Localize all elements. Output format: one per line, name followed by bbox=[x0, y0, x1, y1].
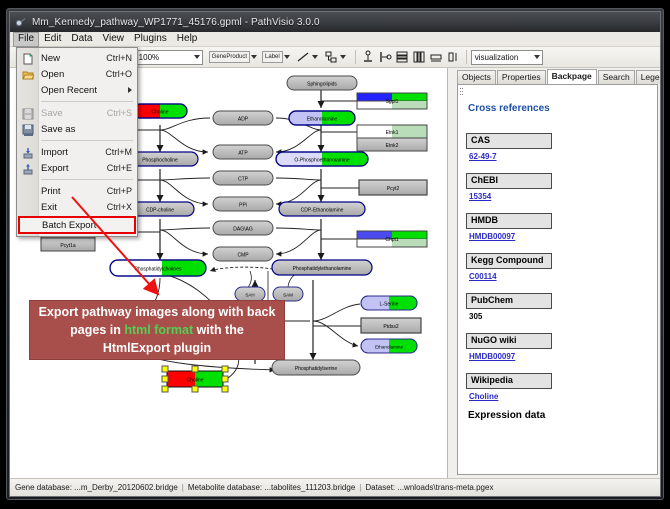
distribute-vertical-icon[interactable] bbox=[394, 49, 410, 65]
svg-text:CDP-choline: CDP-choline bbox=[146, 208, 174, 214]
svg-text:Etnk2: Etnk2 bbox=[386, 143, 399, 149]
node-dag-ag: DAG\AG bbox=[213, 221, 273, 235]
node-phosphatidylserine: Phosphatidylserine bbox=[272, 360, 360, 375]
node-ethanolamine-bottom: Ethanolamine bbox=[361, 339, 417, 353]
xref-cas: CAS 62-49-7 bbox=[466, 130, 657, 161]
svg-text:ATP: ATP bbox=[238, 151, 248, 157]
menu-item-label: New bbox=[41, 53, 98, 64]
menu-item-save: Save Ctrl+S bbox=[17, 105, 137, 121]
node-choline-top: Choline bbox=[133, 104, 187, 118]
xref-value: 305 bbox=[469, 312, 657, 321]
menu-item-save-as[interactable]: Save as bbox=[17, 121, 137, 137]
tab-legend[interactable]: Legend bbox=[636, 70, 661, 84]
node-phosphatidylcholines: Phosphatidylcholines bbox=[110, 260, 206, 276]
callout-highlight: html format bbox=[124, 323, 193, 337]
save-as-icon bbox=[21, 123, 34, 136]
svg-text:O-Phosphoethanolamine: O-Phosphoethanolamine bbox=[294, 158, 350, 164]
menu-divider bbox=[41, 179, 133, 180]
screenshot-root: Mm_Kennedy_pathway_WP1771_45176.gpml - P… bbox=[0, 0, 670, 509]
xref-link[interactable]: HMDB00097 bbox=[469, 232, 657, 241]
menu-item-import[interactable]: Import Ctrl+M bbox=[17, 144, 137, 160]
zoom-value: 100% bbox=[139, 53, 159, 62]
svg-text:Choline: Choline bbox=[152, 110, 169, 116]
chevron-down-icon[interactable] bbox=[340, 55, 346, 59]
svg-text:DAG\AG: DAG\AG bbox=[233, 227, 253, 233]
svg-text:Phosphatidylethanolamine: Phosphatidylethanolamine bbox=[293, 266, 352, 272]
node-atp: ATP bbox=[213, 145, 273, 159]
callout-line-1: Export pathway images along with back bbox=[39, 303, 276, 321]
visualization-value: visualization bbox=[475, 53, 519, 62]
menu-item-new[interactable]: New Ctrl+N bbox=[17, 50, 137, 66]
svg-text:Ethanolamine: Ethanolamine bbox=[375, 345, 404, 350]
svg-text:CDP-Ethanolamine: CDP-Ethanolamine bbox=[301, 208, 344, 214]
import-icon bbox=[21, 146, 34, 159]
chevron-down-icon bbox=[194, 55, 200, 59]
node-cmp: CMP bbox=[213, 247, 273, 261]
svg-text:Sgpl1: Sgpl1 bbox=[386, 99, 399, 105]
menu-plugins[interactable]: Plugins bbox=[129, 32, 172, 47]
same-height-icon[interactable] bbox=[445, 49, 461, 65]
menu-item-accel: Ctrl+S bbox=[107, 108, 132, 118]
svg-text:Phosphatidylserine: Phosphatidylserine bbox=[295, 366, 337, 372]
svg-text:Chpt1: Chpt1 bbox=[385, 237, 399, 243]
node-phosphatidylethanolamine: Phosphatidylethanolamine bbox=[272, 260, 372, 275]
node-o-phosphoethanolamine: O-Phosphoethanolamine bbox=[276, 152, 368, 166]
dataset-value: ...wnloads\trans-meta.pgex bbox=[397, 483, 493, 492]
xref-label: Kegg Compound bbox=[466, 253, 552, 269]
svg-text:Choline: Choline bbox=[187, 378, 204, 384]
svg-text:L-Serine: L-Serine bbox=[380, 302, 399, 308]
window-title: Mm_Kennedy_pathway_WP1771_45176.gpml - P… bbox=[32, 17, 320, 28]
menu-item-export[interactable]: Export Ctrl+E bbox=[17, 160, 137, 176]
file-menu-dropdown[interactable]: New Ctrl+N Open Ctrl+O Open Recent Save bbox=[16, 47, 138, 237]
node-cdp-ethanolamine: CDP-Ethanolamine bbox=[279, 202, 365, 216]
expression-data-heading: Expression data bbox=[468, 410, 657, 421]
callout-line-2-a: pages in bbox=[70, 323, 124, 337]
node-adp: ADP bbox=[213, 111, 273, 125]
svg-text:Phosphatidylcholines: Phosphatidylcholines bbox=[135, 267, 182, 273]
menu-item-accel: Ctrl+X bbox=[107, 202, 132, 212]
xref-kegg-compound: Kegg Compound C00114 bbox=[466, 250, 657, 281]
gene-ptdss2: Ptdss2 bbox=[361, 318, 421, 333]
node-sam: SAM bbox=[273, 287, 303, 301]
svg-text:Sphingolipids: Sphingolipids bbox=[307, 82, 337, 88]
status-divider: | bbox=[359, 483, 361, 492]
title-bar: Mm_Kennedy_pathway_WP1771_45176.gpml - P… bbox=[10, 12, 660, 32]
xref-label: NuGO wiki bbox=[466, 333, 552, 349]
callout-line-2: pages in html format with the bbox=[70, 321, 244, 339]
xref-label: Wikipedia bbox=[466, 373, 552, 389]
toolbar-divider bbox=[466, 50, 467, 64]
node-choline-bottom: Choline bbox=[162, 366, 228, 392]
datanode-button[interactable]: GeneProduct bbox=[209, 51, 250, 63]
node-ethanolamine-top: Ethanolamine bbox=[289, 111, 355, 125]
new-file-icon bbox=[21, 52, 34, 65]
xref-label: CAS bbox=[466, 133, 552, 149]
menu-view[interactable]: View bbox=[97, 32, 129, 47]
menu-item-open-recent[interactable]: Open Recent bbox=[17, 82, 137, 98]
align-top-icon[interactable] bbox=[360, 49, 376, 65]
submenu-arrow-icon bbox=[128, 87, 132, 93]
svg-text:Ptdss2: Ptdss2 bbox=[383, 324, 399, 330]
menu-file[interactable]: File bbox=[13, 32, 39, 47]
xref-chebi: ChEBI 15354 bbox=[466, 170, 657, 201]
svg-text:Pcyt1a: Pcyt1a bbox=[60, 243, 76, 249]
menu-edit[interactable]: Edit bbox=[39, 32, 66, 47]
visualization-combo[interactable]: visualization bbox=[471, 50, 543, 65]
label-button[interactable]: Label bbox=[262, 51, 283, 63]
menu-item-label: Open bbox=[41, 69, 98, 80]
dataset-label: Dataset: bbox=[365, 483, 395, 492]
menu-item-accel: Ctrl+E bbox=[107, 163, 132, 173]
node-sah: SAH bbox=[235, 287, 265, 301]
status-bar: Gene database: ...m_Derby_20120602.bridg… bbox=[10, 478, 660, 496]
cross-references-heading: Cross references bbox=[468, 103, 657, 114]
line-icon[interactable] bbox=[295, 49, 311, 65]
xref-label: ChEBI bbox=[466, 173, 552, 189]
menu-item-label: Import bbox=[41, 147, 97, 158]
menu-item-open[interactable]: Open Ctrl+O bbox=[17, 66, 137, 82]
node-ppi: PPi bbox=[213, 197, 273, 211]
node-l-serine: L-Serine bbox=[361, 296, 417, 310]
xref-link[interactable]: Choline bbox=[469, 392, 657, 401]
xref-link[interactable]: 15354 bbox=[469, 192, 657, 201]
chevron-down-icon[interactable] bbox=[312, 55, 318, 59]
window-inner: Mm_Kennedy_pathway_WP1771_45176.gpml - P… bbox=[9, 11, 661, 497]
tab-backpage[interactable]: Backpage bbox=[547, 69, 597, 84]
same-width-icon[interactable] bbox=[428, 49, 444, 65]
xref-hmdb: HMDB HMDB00097 bbox=[466, 210, 657, 241]
svg-text:SAM: SAM bbox=[283, 293, 293, 298]
anchor-icon[interactable] bbox=[323, 49, 339, 65]
svg-text:Ethanolamine: Ethanolamine bbox=[307, 117, 338, 123]
svg-text:CMP: CMP bbox=[237, 253, 249, 259]
menu-item-label: Exit bbox=[41, 202, 99, 213]
xref-link[interactable]: 62-49-7 bbox=[469, 152, 657, 161]
menu-help[interactable]: Help bbox=[172, 32, 203, 47]
node-sphingolipids: Sphingolipids bbox=[287, 76, 357, 90]
menu-item-print[interactable]: Print Ctrl+P bbox=[17, 183, 137, 199]
panel-grip-icon[interactable] bbox=[459, 87, 465, 101]
svg-text:Etnk1: Etnk1 bbox=[386, 130, 399, 136]
menu-item-label: Print bbox=[41, 186, 99, 197]
application-window: Mm_Kennedy_pathway_WP1771_45176.gpml - P… bbox=[6, 8, 664, 500]
pathvisio-app-icon bbox=[15, 16, 27, 28]
tab-objects[interactable]: Objects bbox=[457, 70, 496, 84]
tab-search[interactable]: Search bbox=[598, 70, 635, 84]
node-ctp: CTP bbox=[213, 171, 273, 185]
gene-pcyt2: Pcyt2 bbox=[359, 180, 427, 195]
xref-wikipedia: Wikipedia Choline bbox=[466, 370, 657, 401]
status-divider: | bbox=[182, 483, 184, 492]
svg-text:SAH: SAH bbox=[245, 293, 254, 298]
gene-database-label: Gene database: bbox=[15, 483, 72, 492]
menu-item-accel: Ctrl+O bbox=[106, 69, 132, 79]
menu-item-label: Batch Export bbox=[42, 220, 129, 231]
align-left-icon[interactable] bbox=[377, 49, 393, 65]
tab-properties[interactable]: Properties bbox=[497, 70, 546, 84]
menu-item-accel: Ctrl+P bbox=[107, 186, 132, 196]
side-panel: Objects Properties Backpage Search Legen… bbox=[448, 68, 660, 478]
gene-pcyt1a: Pcyt1a bbox=[41, 238, 95, 251]
chevron-down-icon[interactable] bbox=[251, 55, 257, 59]
menu-divider bbox=[41, 101, 133, 102]
xref-label: HMDB bbox=[466, 213, 552, 229]
export-icon bbox=[21, 162, 34, 175]
menu-item-accel: Ctrl+M bbox=[105, 147, 132, 157]
zoom-combo[interactable]: 100% bbox=[135, 50, 203, 65]
distribute-horizontal-icon[interactable] bbox=[411, 49, 427, 65]
menu-item-accel: Ctrl+N bbox=[106, 53, 132, 63]
menu-item-label: Save as bbox=[41, 124, 124, 135]
svg-text:ADP: ADP bbox=[238, 117, 249, 123]
callout-line-2-b: with the bbox=[193, 323, 244, 337]
svg-text:Pcyt2: Pcyt2 bbox=[387, 186, 400, 192]
gene-etnk1: Etnk1 bbox=[357, 125, 427, 138]
menu-item-exit[interactable]: Exit Ctrl+X bbox=[17, 199, 137, 215]
gene-database-value: ...m_Derby_20120602.bridge bbox=[74, 483, 178, 492]
svg-text:Phosphocholine: Phosphocholine bbox=[142, 158, 178, 164]
save-disk-icon bbox=[21, 107, 34, 120]
metabolite-database-label: Metabolite database: bbox=[188, 483, 262, 492]
xref-nugo-wiki: NuGO wiki HMDB00097 bbox=[466, 330, 657, 361]
callout-line-3: HtmlExport plugin bbox=[103, 339, 211, 357]
chevron-down-icon bbox=[534, 55, 540, 59]
menu-item-batch-export[interactable]: Batch Export bbox=[18, 216, 136, 234]
side-panel-tabs[interactable]: Objects Properties Backpage Search Legen… bbox=[448, 68, 660, 84]
svg-text:CTP: CTP bbox=[238, 177, 249, 183]
xref-label: PubChem bbox=[466, 293, 552, 309]
open-folder-icon bbox=[21, 68, 34, 81]
metabolite-database-value: ...tabolites_111203.bridge bbox=[264, 483, 355, 492]
menu-item-label: Save bbox=[41, 108, 99, 119]
backpage-content: Cross references CAS 62-49-7 ChEBI 15354… bbox=[457, 84, 658, 475]
toolbar-divider bbox=[355, 50, 356, 64]
xref-link[interactable]: HMDB00097 bbox=[469, 352, 657, 361]
svg-text:PPi: PPi bbox=[239, 203, 247, 209]
gene-sgpl1: Sgpl1 bbox=[357, 93, 427, 109]
xref-link[interactable]: C00114 bbox=[469, 272, 657, 281]
menu-bar[interactable]: File Edit Data View Plugins Help bbox=[10, 32, 660, 47]
gene-etnk2: Etnk2 bbox=[357, 138, 427, 151]
gene-chpt1: Chpt1 bbox=[357, 231, 427, 247]
menu-item-label: Export bbox=[41, 163, 99, 174]
menu-item-label: Open Recent bbox=[41, 85, 128, 96]
chevron-down-icon[interactable] bbox=[284, 55, 290, 59]
menu-divider bbox=[41, 140, 133, 141]
xref-pubchem: PubChem 305 bbox=[466, 290, 657, 321]
menu-data[interactable]: Data bbox=[66, 32, 97, 47]
annotation-callout: Export pathway images along with back pa… bbox=[29, 300, 285, 360]
